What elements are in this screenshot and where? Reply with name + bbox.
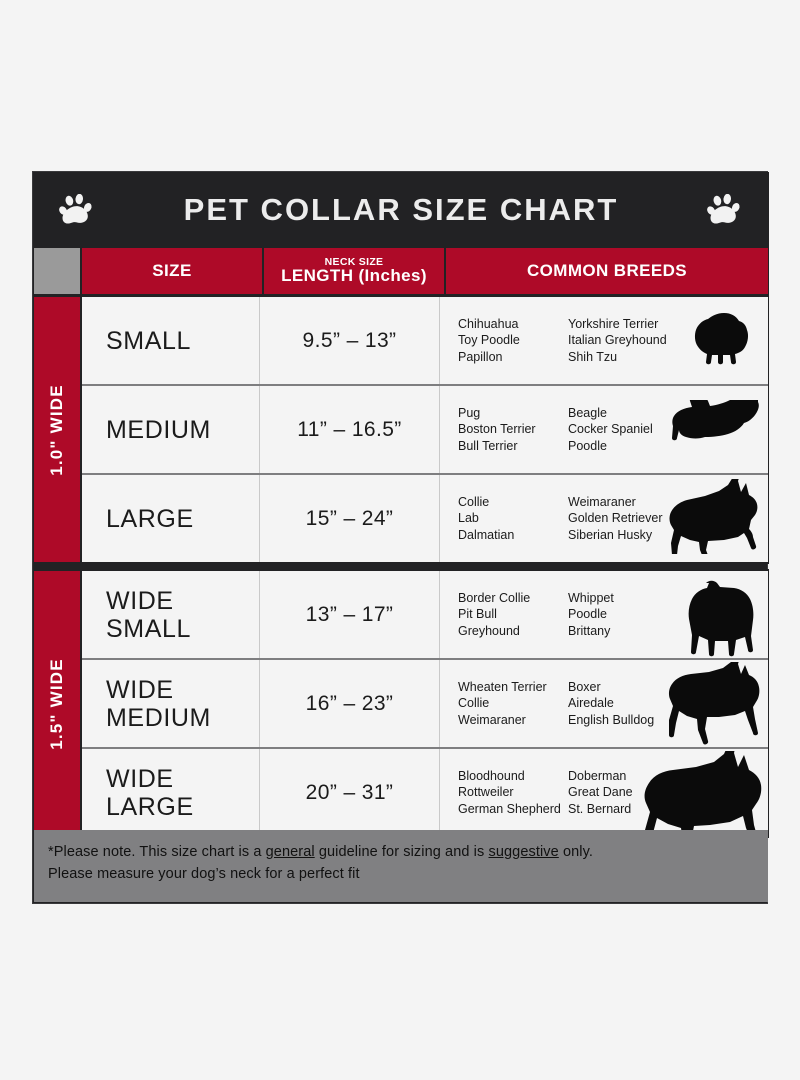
group-width-label-text: 1.0" WIDE (47, 384, 67, 476)
group-width-label: 1.5" WIDE (34, 571, 80, 836)
page-title: PET COLLAR SIZE CHART (184, 192, 619, 228)
breed-item: Bloodhound (458, 768, 568, 785)
size-group: 1.5" WIDEWIDESMALL13” – 17”Border Collie… (33, 569, 769, 838)
cell-neck-length: 16” – 23” (260, 660, 440, 747)
breed-item: Wheaten Terrier (458, 679, 568, 696)
breed-item: Pit Bull (458, 606, 568, 623)
pet-collar-size-chart: PET COLLAR SIZE CHART SIZE NECK SIZE LEN… (32, 171, 768, 904)
cell-common-breeds: ChihuahuaToy PoodlePapillonYorkshire Ter… (440, 297, 768, 384)
cell-size: SMALL (82, 297, 260, 384)
breed-column: BoxerAiredaleEnglish Bulldog (568, 679, 688, 729)
footer-line-2: Please measure your dog’s neck for a per… (48, 863, 754, 885)
breed-item: Whippet (568, 590, 688, 607)
group-width-label-text: 1.5" WIDE (47, 658, 67, 750)
breed-column: Wheaten TerrierCollieWeimaraner (458, 679, 568, 729)
cell-size: WIDEMEDIUM (82, 660, 260, 747)
breed-item: Brittany (568, 623, 688, 640)
header-breeds-cell: COMMON BREEDS (446, 248, 768, 294)
breed-item: Chihuahua (458, 316, 568, 333)
size-label: LARGE (106, 793, 194, 821)
breed-item: St. Bernard (568, 801, 688, 818)
cell-size: WIDELARGE (82, 749, 260, 836)
breed-column: BeagleCocker SpanielPoodle (568, 405, 688, 455)
size-table: SIZE NECK SIZE LENGTH (Inches) COMMON BR… (33, 247, 769, 838)
group-rows: WIDESMALL13” – 17”Border ColliePit BullG… (82, 571, 768, 836)
header-size-label: SIZE (152, 262, 191, 280)
breed-column: BloodhoundRottweilerGerman Shepherd (458, 768, 568, 818)
breed-item: Collie (458, 494, 568, 511)
size-label: LARGE (106, 505, 194, 533)
paw-print-icon (59, 194, 95, 228)
cell-size: MEDIUM (82, 386, 260, 473)
paw-print-icon (707, 194, 743, 228)
breed-item: Border Collie (458, 590, 568, 607)
cell-neck-length: 11” – 16.5” (260, 386, 440, 473)
size-label: MEDIUM (106, 704, 211, 732)
breed-item: Rottweiler (458, 784, 568, 801)
breed-item: Collie (458, 695, 568, 712)
size-groups-host: 1.0" WIDESMALL9.5” – 13”ChihuahuaToy Poo… (33, 295, 769, 838)
header-length-label: LENGTH (Inches) (281, 267, 427, 285)
table-row[interactable]: WIDELARGE20” – 31”BloodhoundRottweilerGe… (82, 749, 768, 836)
breed-item: Airedale (568, 695, 688, 712)
breed-item: Shih Tzu (568, 349, 688, 366)
breed-column: Yorkshire TerrierItalian GreyhoundShih T… (568, 316, 688, 366)
size-label: SMALL (106, 327, 191, 355)
footer-note: *Please note. This size chart is a gener… (34, 830, 768, 902)
group-rows: SMALL9.5” – 13”ChihuahuaToy PoodlePapill… (82, 297, 768, 562)
breed-item: Weimaraner (568, 494, 688, 511)
cell-neck-length: 20” – 31” (260, 749, 440, 836)
cell-size: LARGE (82, 475, 260, 562)
footer-emphasis-general: general (266, 844, 315, 860)
breed-item: Lab (458, 510, 568, 527)
table-header-row: SIZE NECK SIZE LENGTH (Inches) COMMON BR… (33, 247, 769, 295)
breed-item: Cocker Spaniel (568, 421, 688, 438)
breed-item: Poodle (568, 438, 688, 455)
page-root: PET COLLAR SIZE CHART SIZE NECK SIZE LEN… (0, 0, 800, 1080)
breed-item: Italian Greyhound (568, 332, 688, 349)
breed-item: Golden Retriever (568, 510, 688, 527)
breed-item: Bull Terrier (458, 438, 568, 455)
cell-neck-length: 13” – 17” (260, 571, 440, 658)
breed-item: Yorkshire Terrier (568, 316, 688, 333)
bulldog-silhouette-icon (676, 579, 758, 657)
breed-item: Weimaraner (458, 712, 568, 729)
breed-item: Siberian Husky (568, 527, 688, 544)
header-length-cell: NECK SIZE LENGTH (Inches) (264, 248, 444, 294)
pomeranian-silhouette-icon (688, 309, 762, 371)
size-label: MEDIUM (106, 416, 211, 444)
header-spacer-cell (34, 248, 80, 294)
size-label: WIDE (106, 676, 174, 704)
table-row[interactable]: MEDIUM11” – 16.5”PugBoston TerrierBull T… (82, 386, 768, 473)
breed-item: Papillon (458, 349, 568, 366)
header-size-cell: SIZE (82, 248, 262, 294)
table-row[interactable]: WIDEMEDIUM16” – 23”Wheaten TerrierCollie… (82, 660, 768, 747)
breed-item: Boston Terrier (458, 421, 568, 438)
size-label: SMALL (106, 615, 191, 643)
breed-column: DobermanGreat DaneSt. Bernard (568, 768, 688, 818)
breed-item: German Shepherd (458, 801, 568, 818)
breed-column: WeimaranerGolden RetrieverSiberian Husky (568, 494, 688, 544)
cell-common-breeds: Border ColliePit BullGreyhoundWhippetPoo… (440, 571, 768, 658)
footer-text-a: *Please note. This size chart is a (48, 844, 266, 860)
table-row[interactable]: SMALL9.5” – 13”ChihuahuaToy PoodlePapill… (82, 297, 768, 384)
breed-column: PugBoston TerrierBull Terrier (458, 405, 568, 455)
footer-text-b: guideline for sizing and is (315, 844, 489, 860)
breed-item: Pug (458, 405, 568, 422)
breed-item: Greyhound (458, 623, 568, 640)
group-width-label: 1.0" WIDE (34, 297, 80, 562)
breed-column: WhippetPoodleBrittany (568, 590, 688, 640)
breed-item: Beagle (568, 405, 688, 422)
breed-item: Poodle (568, 606, 688, 623)
header-breeds-label: COMMON BREEDS (527, 262, 687, 280)
table-row[interactable]: LARGE15” – 24”CollieLabDalmatianWeimaran… (82, 475, 768, 562)
breed-column: Border ColliePit BullGreyhound (458, 590, 568, 640)
breed-item: Doberman (568, 768, 688, 785)
footer-line-1: *Please note. This size chart is a gener… (48, 841, 754, 863)
size-label: WIDE (106, 765, 174, 793)
table-row[interactable]: WIDESMALL13” – 17”Border ColliePit BullG… (82, 571, 768, 658)
cell-common-breeds: CollieLabDalmatianWeimaranerGolden Retri… (440, 475, 768, 562)
footer-text-c: only. (559, 844, 593, 860)
breed-column: ChihuahuaToy PoodlePapillon (458, 316, 568, 366)
breed-item: Toy Poodle (458, 332, 568, 349)
size-group: 1.0" WIDESMALL9.5” – 13”ChihuahuaToy Poo… (33, 295, 769, 564)
breed-item: English Bulldog (568, 712, 688, 729)
cell-size: WIDESMALL (82, 571, 260, 658)
cell-neck-length: 15” – 24” (260, 475, 440, 562)
size-label: WIDE (106, 587, 174, 615)
cell-common-breeds: Wheaten TerrierCollieWeimaranerBoxerAire… (440, 660, 768, 747)
chart-title-bar: PET COLLAR SIZE CHART (33, 172, 769, 247)
breed-item: Dalmatian (458, 527, 568, 544)
cell-common-breeds: PugBoston TerrierBull TerrierBeagleCocke… (440, 386, 768, 473)
footer-emphasis-suggestive: suggestive (488, 844, 558, 860)
cell-common-breeds: BloodhoundRottweilerGerman ShepherdDober… (440, 749, 768, 836)
breed-item: Boxer (568, 679, 688, 696)
breed-column: CollieLabDalmatian (458, 494, 568, 544)
breed-item: Great Dane (568, 784, 688, 801)
cell-neck-length: 9.5” – 13” (260, 297, 440, 384)
